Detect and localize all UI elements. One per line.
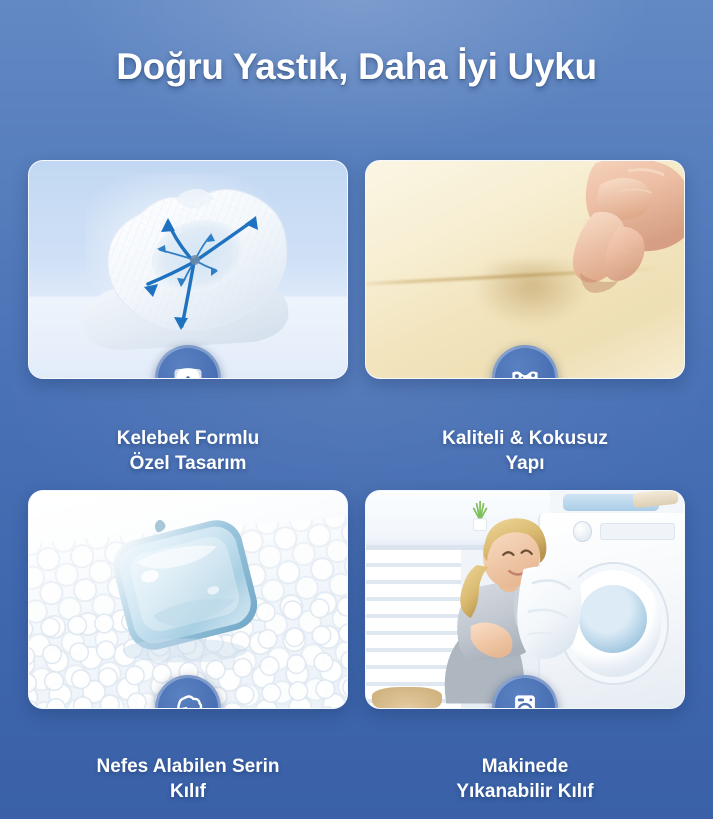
page-title-container: Doğru Yastık, Daha İyi Uyku: [0, 46, 713, 88]
feature-image-quality-odorless: [365, 160, 685, 379]
feature-image-machine-washable: [365, 490, 685, 709]
feature-image-butterfly-design: [28, 160, 348, 379]
pillow-icon: [170, 360, 206, 379]
feature-card-butterfly-design[interactable]: Kelebek Formlu Özel Tasarım: [28, 160, 348, 476]
feature-grid: Kelebek Formlu Özel Tasarım: [28, 160, 685, 805]
feature-image-breathable-cover: [28, 490, 348, 709]
ice-cube-illustration: [93, 511, 283, 676]
feature-card-breathable-cover[interactable]: Nefes Alabilen Serin Kılıf: [28, 490, 348, 804]
feature-caption-quality-odorless: Kaliteli & Kokusuz Yapı: [365, 427, 685, 476]
laundry-basket: [372, 687, 442, 709]
breeze-cloud-icon: [170, 690, 206, 709]
machine-control-panel: [600, 523, 675, 541]
feature-card-machine-washable[interactable]: Makinede Yıkanabilir Kılıf: [365, 490, 685, 804]
feature-caption-butterfly-design: Kelebek Formlu Özel Tasarım: [28, 427, 348, 476]
feature-caption-breathable-cover: Nefes Alabilen Serin Kılıf: [28, 755, 348, 804]
washing-machine-icon: [507, 690, 543, 709]
machine-door-glass: [579, 585, 647, 653]
page-title: Doğru Yastık, Daha İyi Uyku: [0, 46, 713, 88]
feature-card-quality-odorless[interactable]: Kaliteli & Kokusuz Yapı: [365, 160, 685, 476]
foam-sponge-icon: [507, 360, 543, 379]
woman-with-laundry-illustration: [430, 509, 583, 709]
hand-pressing-foam-illustration: [500, 161, 684, 327]
feature-caption-machine-washable: Makinede Yıkanabilir Kılıf: [365, 755, 685, 804]
promo-banner: Doğru Yastık, Daha İyi Uyku: [0, 0, 713, 819]
butterfly-pillow-illustration: [48, 170, 328, 370]
